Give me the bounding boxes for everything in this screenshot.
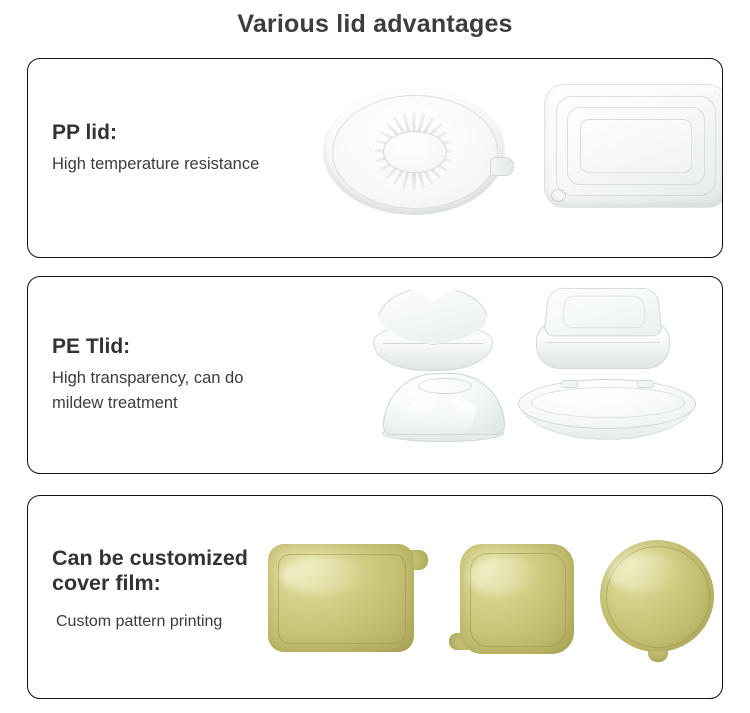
oval-pe-lid-top	[518, 379, 696, 429]
panel-pe-tlid-description: High transparency, can do mildew treatme…	[52, 366, 243, 417]
panel-cover-film: Can be customized cover film: Custom pat…	[27, 495, 723, 699]
gold-square-foil-lid-sheen	[469, 557, 537, 594]
round-pp-lid-tab	[490, 157, 514, 176]
gold-rectangular-foil-lid-image	[268, 544, 414, 652]
square-pe-lid-inner	[561, 296, 646, 329]
dome-pe-lid-image	[383, 373, 503, 441]
panel-cover-film-description: Custom pattern printing	[52, 610, 248, 635]
square-pe-lid-image	[536, 285, 668, 369]
panel-pp-lid-text: PP lid: High temperature resistance	[52, 121, 259, 177]
round-pp-lid-image	[323, 87, 505, 215]
gold-round-foil-lid-face	[600, 540, 714, 652]
gold-round-foil-lid-sheen	[609, 553, 677, 591]
heart-pe-lid-image	[373, 287, 491, 369]
square-pe-lid-top	[543, 288, 662, 336]
gold-square-foil-lid-face	[460, 544, 574, 654]
page-title: Various lid advantages	[0, 10, 750, 39]
square-pe-lid-base-line	[546, 342, 660, 343]
panel-pe-tlid-heading: PE Tlid:	[52, 335, 243, 360]
gold-rectangular-foil-lid-sheen	[280, 557, 368, 594]
gold-square-foil-lid-image	[460, 544, 574, 654]
panel-pp-lid: PP lid: High temperature resistance	[27, 58, 723, 258]
rect-pp-lid-notch	[551, 189, 566, 202]
oval-pe-lid-notch-right	[637, 380, 654, 388]
panel-pe-tlid-text: PE Tlid: High transparency, can do milde…	[52, 335, 243, 417]
rectangular-pp-lid-image	[544, 84, 723, 208]
oval-pe-lid-image	[518, 379, 694, 441]
panel-cover-film-text: Can be customized cover film: Custom pat…	[52, 546, 248, 635]
panel-pe-tlid: PE Tlid: High transparency, can do milde…	[27, 276, 723, 474]
panel-pp-lid-description: High temperature resistance	[52, 152, 259, 178]
oval-pe-lid-notch-left	[561, 380, 578, 388]
panel-pp-lid-heading: PP lid:	[52, 121, 259, 146]
gold-round-foil-lid-image	[600, 540, 714, 652]
dome-pe-lid-window-right	[445, 398, 477, 429]
rect-pp-lid-ring-inner	[580, 119, 693, 173]
oval-pe-lid-inner	[531, 387, 684, 419]
panel-cover-film-heading: Can be customized cover film:	[52, 546, 248, 597]
dome-pe-lid-cap	[383, 373, 505, 435]
rect-pp-lid-body	[544, 84, 723, 208]
gold-rectangular-foil-lid-face	[268, 544, 414, 652]
dome-pe-lid-window-left	[407, 398, 439, 429]
round-pp-lid-center	[383, 131, 447, 174]
dome-pe-lid-ring	[418, 378, 473, 394]
